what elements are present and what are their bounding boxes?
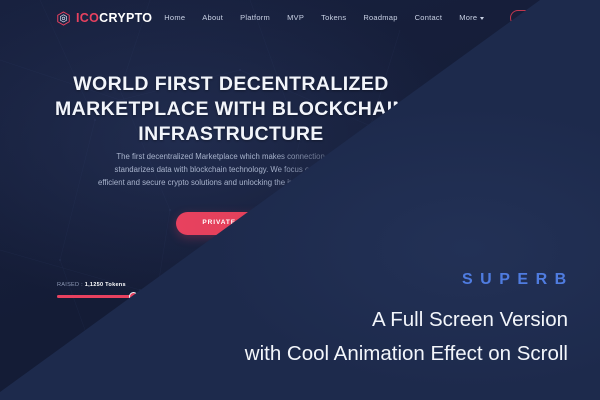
chevron-down-icon	[480, 17, 484, 20]
progress-fill	[57, 295, 134, 298]
nav-item-contact[interactable]: Contact	[415, 14, 443, 22]
overlay-caption-line-1: A Full Screen Version	[245, 303, 568, 337]
nav-item-tokens[interactable]: Tokens	[321, 14, 346, 22]
main-navigation: Home About Platform MVP Tokens Roadmap C…	[164, 10, 556, 26]
nav-item-about[interactable]: About	[202, 14, 223, 22]
nav-item-platform[interactable]: Platform	[240, 14, 270, 22]
raised-key: RAISED :	[57, 282, 83, 288]
overlay-eyebrow: SUPERB	[462, 272, 574, 288]
hero-headline-line-1: WORLD FIRST DECENTRALIZED	[0, 72, 462, 97]
brand-name-primary: ICO	[76, 11, 99, 25]
nav-item-mvp[interactable]: MVP	[287, 14, 304, 22]
promo-screenshot: ICOCRYPTO Home About Platform MVP Tokens…	[0, 0, 600, 400]
nav-item-more-label: More	[459, 14, 477, 22]
overlay-caption: A Full Screen Version with Cool Animatio…	[245, 303, 568, 371]
brand-name-secondary: CRYPTO	[99, 11, 152, 25]
nav-item-home[interactable]: Home	[164, 14, 185, 22]
brand-logo[interactable]: ICOCRYPTO	[56, 11, 152, 26]
overlay-caption-line-2: with Cool Animation Effect on Scroll	[245, 337, 568, 371]
nav-item-more[interactable]: More	[459, 14, 484, 22]
brand-name: ICOCRYPTO	[76, 12, 152, 25]
nav-item-roadmap[interactable]: Roadmap	[363, 14, 397, 22]
raised-value: 1,1250 Tokens	[85, 282, 126, 288]
hexagon-logo-icon	[56, 11, 71, 26]
